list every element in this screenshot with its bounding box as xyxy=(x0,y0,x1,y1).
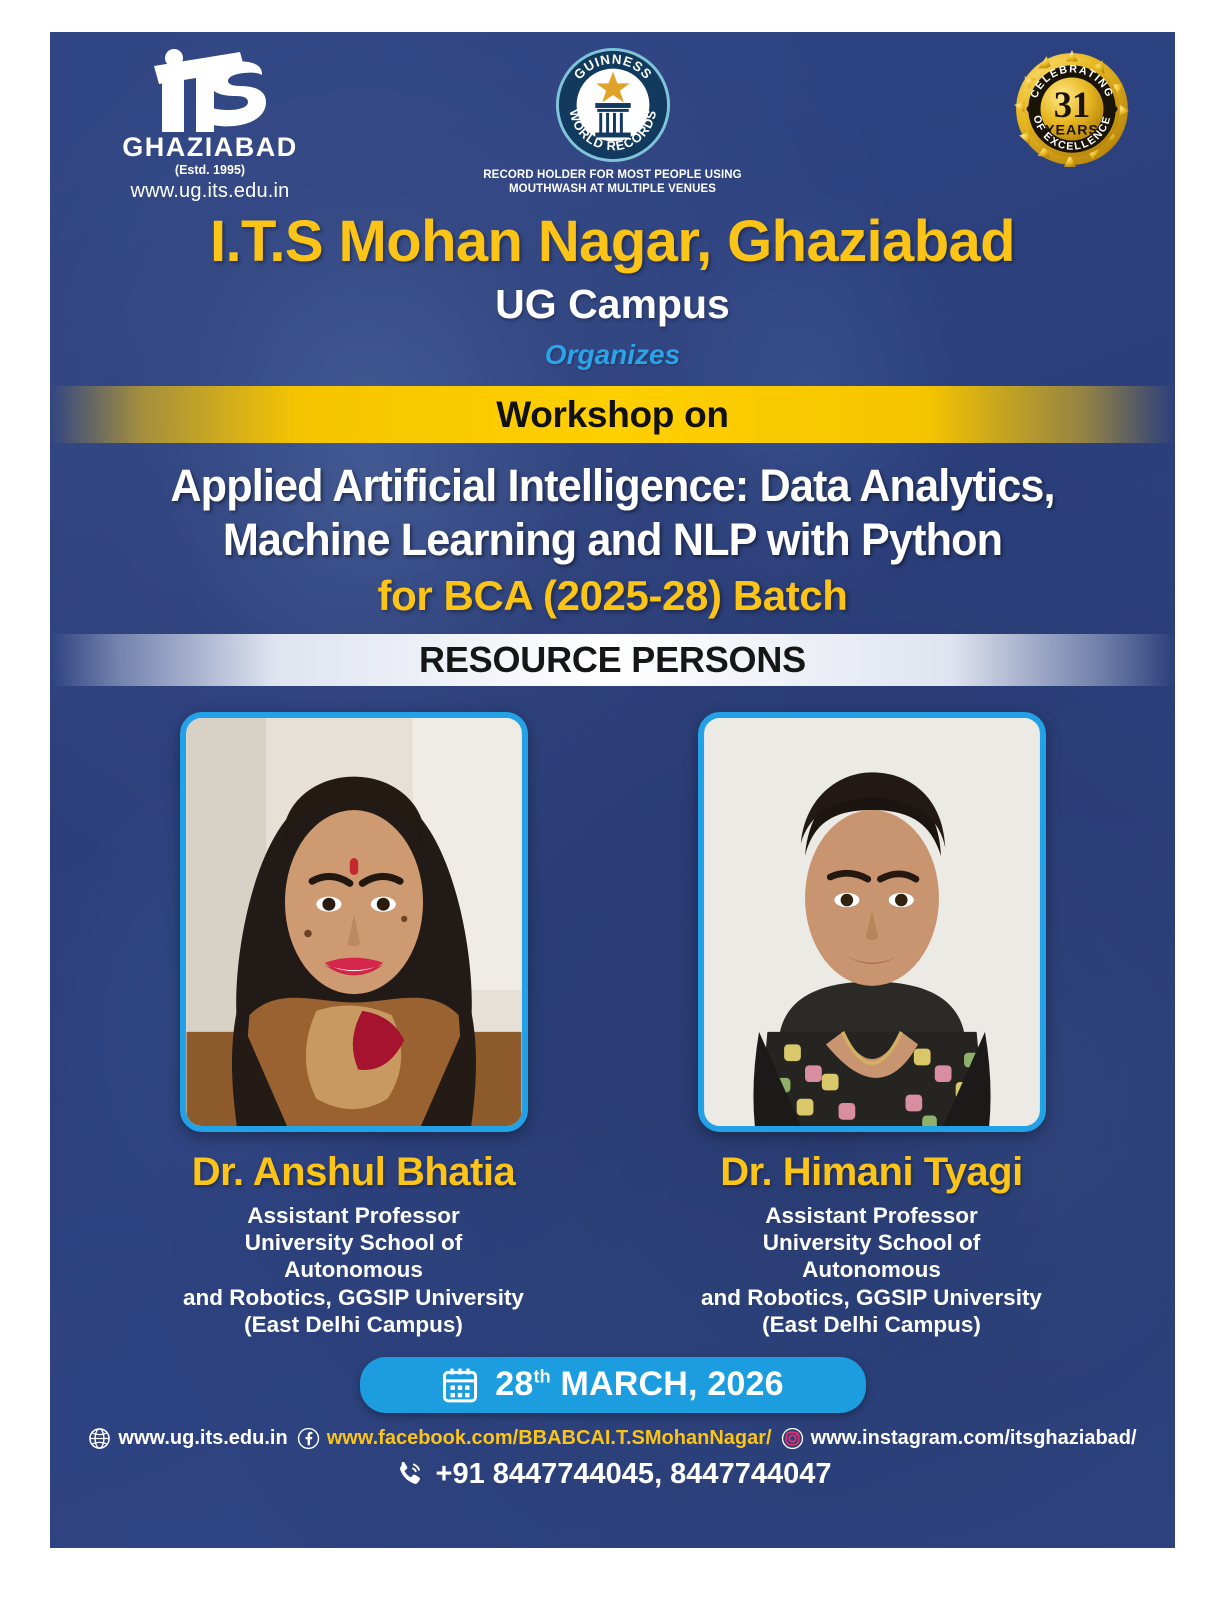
footer-links-row: www.ug.its.edu.in www.facebook.com/BBABC… xyxy=(50,1427,1175,1450)
event-date-ordinal: th xyxy=(533,1367,550,1387)
guinness-world-records-icon: GUINNESS WORLD RECORDS xyxy=(554,46,672,164)
event-date-badge: 28th MARCH, 2026 xyxy=(360,1357,866,1413)
speaker-name: Dr. Himani Tyagi xyxy=(698,1152,1046,1192)
poster-page: GHAZIABAD (Estd. 1995) www.ug.its.edu.in xyxy=(0,0,1226,1600)
calendar-icon xyxy=(441,1366,479,1404)
speaker-name: Dr. Anshul Bhatia xyxy=(180,1152,528,1192)
speaker-affiliation-line1: University School of Autonomous xyxy=(698,1229,1046,1284)
speaker-affiliation-line2: and Robotics, GGSIP University xyxy=(698,1284,1046,1311)
organizes-label: Organizes xyxy=(50,339,1175,371)
speaker-affiliation-line3: (East Delhi Campus) xyxy=(698,1311,1046,1338)
speaker-card: Dr. Anshul Bhatia Assistant Professor Un… xyxy=(180,712,528,1339)
its-logo-icon xyxy=(144,44,276,136)
speaker-photo-frame xyxy=(180,712,528,1132)
poster-footer: www.ug.its.edu.in www.facebook.com/BBABC… xyxy=(50,1427,1175,1491)
speaker-affiliation-line3: (East Delhi Campus) xyxy=(180,1311,528,1338)
event-date-text: 28th MARCH, 2026 xyxy=(495,1365,784,1404)
campus-subtitle: UG Campus xyxy=(50,282,1175,327)
footer-facebook[interactable]: www.facebook.com/BBABCAI.T.SMohanNagar/ xyxy=(297,1427,772,1450)
event-date-month-year: MARCH, 2026 xyxy=(560,1365,783,1403)
facebook-icon xyxy=(297,1427,320,1450)
workshop-name-line2: Machine Learning and NLP with Python xyxy=(73,513,1153,566)
workshop-name: Applied Artificial Intelligence: Data An… xyxy=(73,459,1153,565)
guinness-caption-line1: RECORD HOLDER FOR MOST PEOPLE USING xyxy=(443,168,783,182)
its-logo-website: www.ug.its.edu.in xyxy=(95,180,325,203)
phone-icon xyxy=(394,1459,424,1489)
footer-website[interactable]: www.ug.its.edu.in xyxy=(88,1427,287,1450)
footer-website-text: www.ug.its.edu.in xyxy=(118,1427,287,1450)
footer-facebook-text: www.facebook.com/BBABCAI.T.SMohanNagar/ xyxy=(327,1427,772,1450)
speaker-details: Assistant Professor University School of… xyxy=(180,1202,528,1339)
date-section: 28th MARCH, 2026 xyxy=(50,1357,1175,1413)
workshop-on-banner: Workshop on xyxy=(50,386,1175,443)
speaker-designation: Assistant Professor xyxy=(698,1202,1046,1229)
speakers-section: Dr. Anshul Bhatia Assistant Professor Un… xyxy=(50,712,1175,1339)
poster-header: GHAZIABAD (Estd. 1995) www.ug.its.edu.in xyxy=(50,32,1175,210)
workshop-batch: for BCA (2025-28) Batch xyxy=(50,572,1175,620)
its-logo-established: (Estd. 1995) xyxy=(95,163,325,177)
speaker-details: Assistant Professor University School of… xyxy=(698,1202,1046,1339)
footer-phone-text: +91 8447744045, 8447744047 xyxy=(436,1458,832,1491)
workshop-on-label: Workshop on xyxy=(496,394,728,436)
title-block: I.T.S Mohan Nagar, Ghaziabad UG Campus O… xyxy=(50,212,1175,371)
speaker-photo-himani-tyagi xyxy=(704,718,1040,1126)
workshop-name-line1: Applied Artificial Intelligence: Data An… xyxy=(73,459,1153,512)
footer-phone[interactable]: +91 8447744045, 8447744047 xyxy=(50,1458,1175,1491)
guinness-caption-line2: MOUTHWASH AT MULTIPLE VENUES xyxy=(443,182,783,196)
instagram-icon xyxy=(781,1427,804,1450)
speaker-affiliation-line2: and Robotics, GGSIP University xyxy=(180,1284,528,1311)
institute-title: I.T.S Mohan Nagar, Ghaziabad xyxy=(50,212,1175,272)
speaker-photo-anshul-bhatia xyxy=(186,718,522,1126)
resource-persons-label: RESOURCE PERSONS xyxy=(419,639,806,681)
speaker-card: Dr. Himani Tyagi Assistant Professor Uni… xyxy=(698,712,1046,1339)
svg-text:31: 31 xyxy=(1054,84,1091,125)
event-date-day: 28 xyxy=(495,1365,533,1403)
its-institute-logo: GHAZIABAD (Estd. 1995) www.ug.its.edu.in xyxy=(95,44,325,203)
footer-instagram[interactable]: www.instagram.com/itsghaziabad/ xyxy=(781,1427,1137,1450)
globe-icon xyxy=(88,1427,111,1450)
speaker-photo-frame xyxy=(698,712,1046,1132)
footer-instagram-text: www.instagram.com/itsghaziabad/ xyxy=(811,1427,1137,1450)
workshop-poster: GHAZIABAD (Estd. 1995) www.ug.its.edu.in xyxy=(50,32,1175,1548)
speaker-affiliation-line1: University School of Autonomous xyxy=(180,1229,528,1284)
speaker-designation: Assistant Professor xyxy=(180,1202,528,1229)
guinness-caption: RECORD HOLDER FOR MOST PEOPLE USING MOUT… xyxy=(443,168,783,197)
guinness-world-records-block: GUINNESS WORLD RECORDS RECORD HOLDER FOR… xyxy=(443,46,783,197)
anniversary-31-years-badge-icon: 31 YEARS CELEBRATING OF EXCELLENCE xyxy=(1011,48,1133,170)
its-logo-city: GHAZIABAD xyxy=(95,134,325,161)
resource-persons-banner: RESOURCE PERSONS xyxy=(50,634,1175,686)
